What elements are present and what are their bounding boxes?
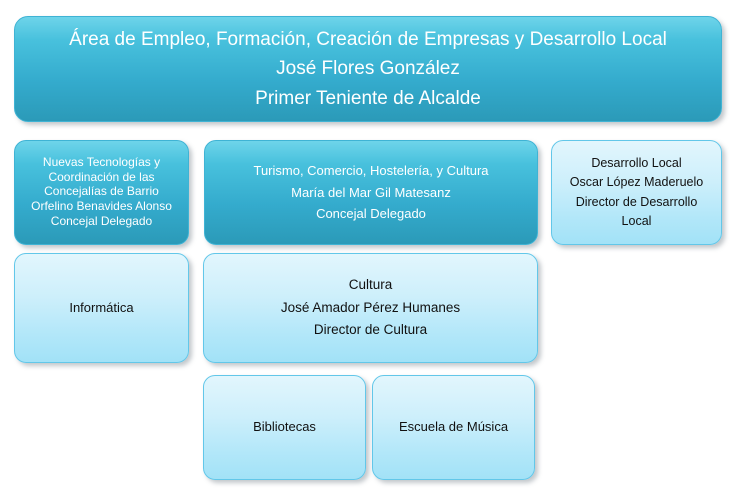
org-node-person: José Amador Pérez Humanes bbox=[281, 297, 460, 320]
org-node-role: Concejal Delegado bbox=[51, 214, 152, 230]
org-node-escuela-de-musica[interactable]: Escuela de Música bbox=[372, 375, 535, 480]
org-node-cultura[interactable]: Cultura José Amador Pérez Humanes Direct… bbox=[203, 253, 538, 363]
org-node-title: Desarrollo Local bbox=[591, 154, 681, 173]
org-node-title: Nuevas Tecnologías y Coordinación de las… bbox=[23, 155, 180, 199]
org-node-desarrollo-local[interactable]: Desarrollo Local Oscar López Maderuelo D… bbox=[551, 140, 722, 245]
org-node-turismo-comercio-hosteleria-cultura[interactable]: Turismo, Comercio, Hostelería, y Cultura… bbox=[204, 140, 538, 245]
org-node-person: Orfelino Benavides Alonso bbox=[31, 199, 172, 215]
org-node-area-empleo[interactable]: Área de Empleo, Formación, Creación de E… bbox=[14, 16, 722, 122]
org-node-title: Informática bbox=[69, 300, 133, 317]
org-node-title: Turismo, Comercio, Hostelería, y Cultura bbox=[253, 160, 488, 181]
org-node-person: José Flores González bbox=[276, 54, 460, 83]
org-node-role: Primer Teniente de Alcalde bbox=[255, 84, 481, 113]
org-node-title: Bibliotecas bbox=[253, 419, 316, 436]
org-chart: Área de Empleo, Formación, Creación de E… bbox=[0, 0, 734, 504]
org-node-role: Concejal Delegado bbox=[316, 203, 426, 224]
org-node-person: Oscar López Maderuelo bbox=[570, 173, 703, 192]
org-node-title: Escuela de Música bbox=[399, 419, 508, 436]
org-node-title: Área de Empleo, Formación, Creación de E… bbox=[69, 25, 667, 54]
org-node-informatica[interactable]: Informática bbox=[14, 253, 189, 363]
org-node-bibliotecas[interactable]: Bibliotecas bbox=[203, 375, 366, 480]
org-node-person: María del Mar Gil Matesanz bbox=[291, 182, 451, 203]
org-node-role: Director de Cultura bbox=[314, 319, 427, 342]
org-node-role: Director de Desarrollo Local bbox=[560, 193, 713, 232]
org-node-title: Cultura bbox=[349, 274, 393, 297]
org-node-nuevas-tecnologias[interactable]: Nuevas Tecnologías y Coordinación de las… bbox=[14, 140, 189, 245]
